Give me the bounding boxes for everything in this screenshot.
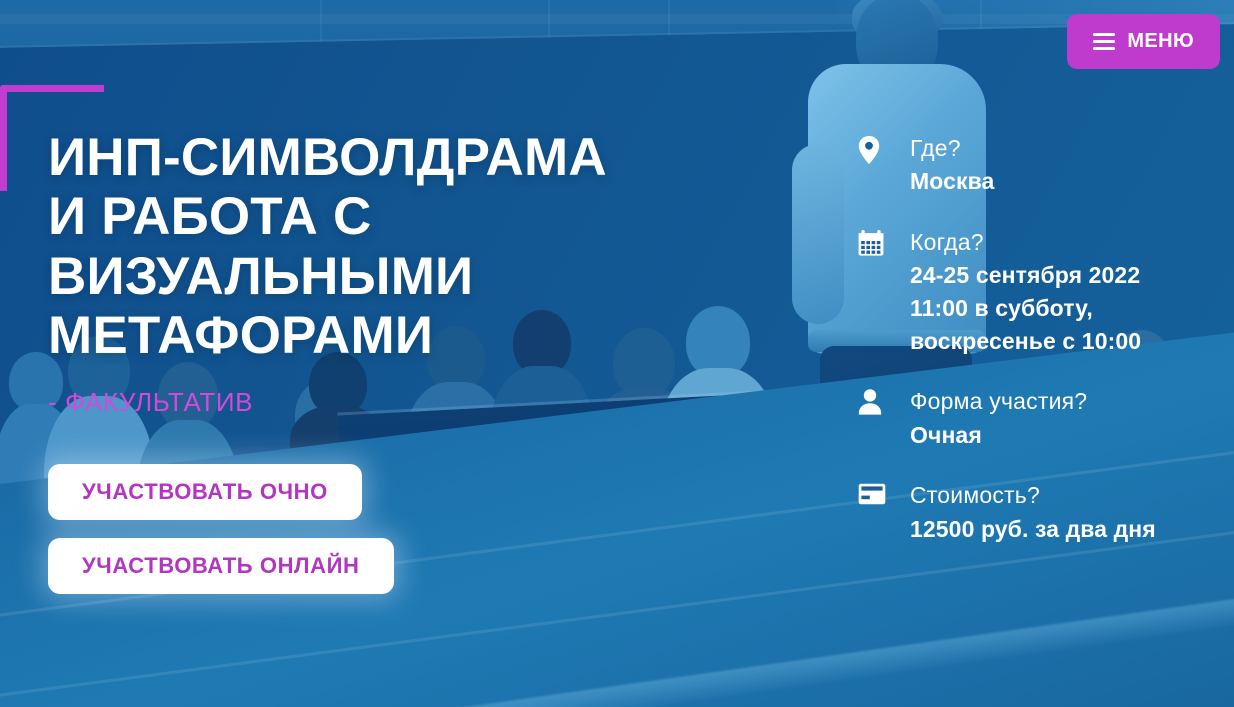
event-detail-value: Москва bbox=[910, 165, 994, 198]
event-detail-value: воскресенье с 10:00 bbox=[910, 325, 1141, 358]
event-details-list: Где? Москва bbox=[858, 132, 1228, 573]
event-detail-text: Форма участия? Очная bbox=[910, 385, 1087, 451]
event-detail-date: Когда? 24-25 сентября 2022 11:00 в суббо… bbox=[858, 226, 1228, 357]
page-title: ИНП-СИМВОЛДРАМА И РАБОТА С ВИЗУАЛЬНЫМИ М… bbox=[48, 128, 708, 365]
page-title-line: И РАБОТА С bbox=[48, 187, 708, 246]
menu-button-label: МЕНЮ bbox=[1127, 30, 1194, 53]
calendar-icon bbox=[858, 226, 884, 357]
hero-banner: МЕНЮ ИНП-СИМВОЛДРАМА И РАБОТА С ВИЗУАЛЬН… bbox=[0, 0, 1234, 707]
event-detail-format: Форма участия? Очная bbox=[858, 385, 1228, 451]
hero-left-column: ИНП-СИМВОЛДРАМА И РАБОТА С ВИЗУАЛЬНЫМИ М… bbox=[48, 128, 708, 594]
event-detail-value: 11:00 в субботу, bbox=[910, 292, 1141, 325]
event-detail-text: Когда? 24-25 сентября 2022 11:00 в суббо… bbox=[910, 226, 1141, 357]
event-detail-price: Стоимость? 12500 руб. за два дня bbox=[858, 479, 1228, 545]
event-detail-value: Очная bbox=[910, 419, 1087, 452]
event-detail-value: 24-25 сентября 2022 bbox=[910, 259, 1141, 292]
page-title-line: ВИЗУАЛЬНЫМИ bbox=[48, 247, 708, 306]
event-detail-text: Стоимость? 12500 руб. за два дня bbox=[910, 479, 1156, 545]
event-detail-label: Форма участия? bbox=[910, 385, 1087, 418]
event-detail-label: Когда? bbox=[910, 226, 1141, 259]
event-detail-text: Где? Москва bbox=[910, 132, 994, 198]
cta-group: УЧАСТВОВАТЬ ОЧНО УЧАСТВОВАТЬ ОНЛАЙН bbox=[48, 464, 708, 594]
event-detail-label: Стоимость? bbox=[910, 479, 1156, 512]
menu-button[interactable]: МЕНЮ bbox=[1067, 14, 1220, 69]
page-title-line: ИНП-СИМВОЛДРАМА bbox=[48, 128, 708, 187]
event-detail-location: Где? Москва bbox=[858, 132, 1228, 198]
credit-card-icon bbox=[858, 479, 884, 545]
person-icon bbox=[858, 385, 884, 451]
hamburger-icon bbox=[1093, 33, 1115, 50]
location-pin-icon bbox=[858, 132, 884, 198]
participate-offline-button[interactable]: УЧАСТВОВАТЬ ОЧНО bbox=[48, 464, 362, 520]
event-detail-value: 12500 руб. за два дня bbox=[910, 513, 1156, 546]
event-detail-label: Где? bbox=[910, 132, 994, 165]
page-subtitle: - ФАКУЛЬТАТИВ bbox=[48, 387, 708, 418]
hero-content: МЕНЮ ИНП-СИМВОЛДРАМА И РАБОТА С ВИЗУАЛЬН… bbox=[0, 0, 1234, 707]
participate-online-button[interactable]: УЧАСТВОВАТЬ ОНЛАЙН bbox=[48, 538, 394, 594]
page-title-line: МЕТАФОРАМИ bbox=[48, 306, 708, 365]
